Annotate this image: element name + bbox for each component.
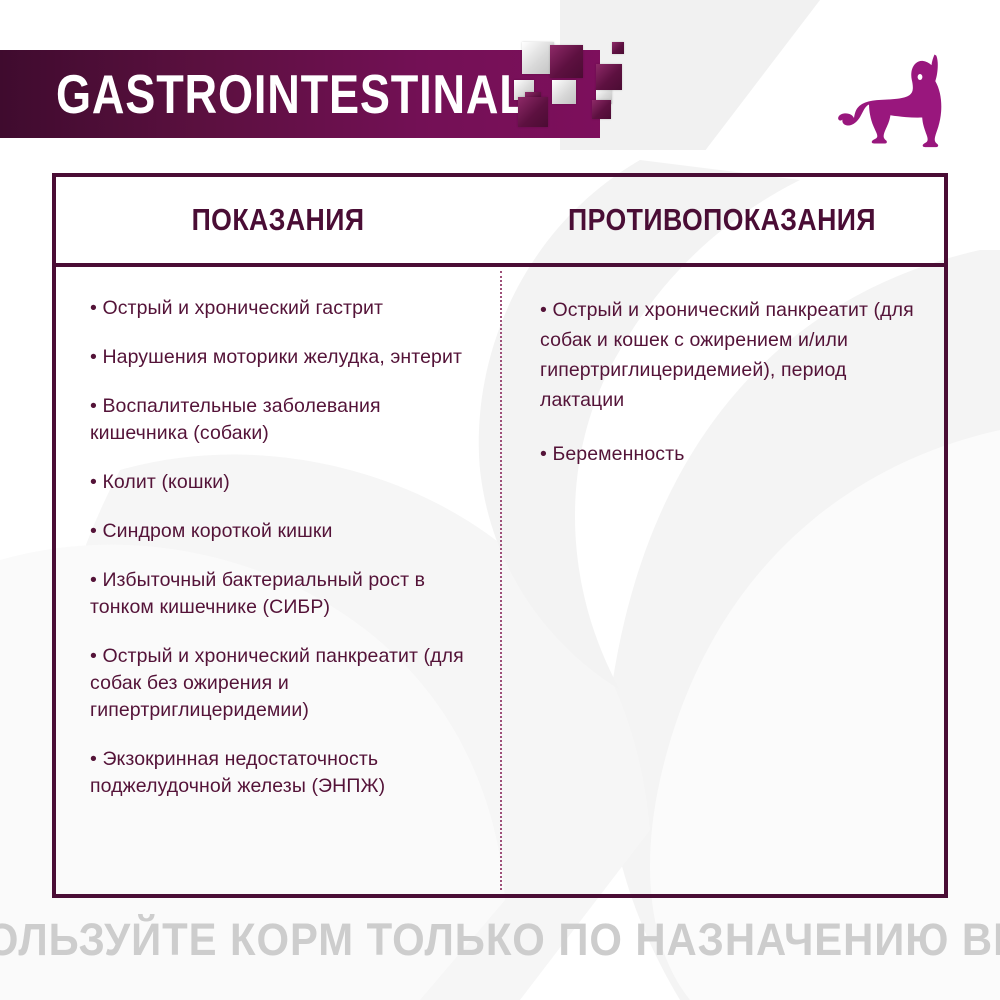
column-divider bbox=[500, 271, 502, 890]
list-item: • Острый и хронический панкреатит (для с… bbox=[540, 295, 922, 415]
list-item: • Синдром короткой кишки bbox=[90, 518, 482, 545]
decor-square-grey bbox=[552, 80, 576, 104]
footer-disclaimer: ИСПОЛЬЗУЙТЕ КОРМ ТОЛЬКО ПО НАЗНАЧЕНИЮ ВР… bbox=[0, 914, 1000, 966]
column-header-contraindications: ПРОТИВОПОКАЗАНИЯ bbox=[531, 202, 913, 238]
column-header-indications: ПОКАЗАНИЯ bbox=[87, 202, 469, 238]
list-item: • Избыточный бактериальный рост в тонком… bbox=[90, 567, 482, 621]
list-item: • Острый и хронический гастрит bbox=[90, 295, 482, 322]
decor-square-purple bbox=[596, 64, 622, 90]
list-item: • Воспалительные заболевания кишечника (… bbox=[90, 393, 482, 447]
page-title: GASTROINTESTINAL bbox=[56, 50, 528, 138]
decor-square-purple bbox=[518, 97, 548, 127]
list-item: • Колит (кошки) bbox=[90, 469, 482, 496]
list-item: • Беременность bbox=[540, 439, 922, 469]
decor-square-purple bbox=[592, 100, 611, 119]
list-item: • Нарушения моторики желудка, энтерит bbox=[90, 344, 482, 371]
table-header-row: ПОКАЗАНИЯ ПРОТИВОПОКАЗАНИЯ bbox=[56, 177, 944, 267]
indications-column: • Острый и хронический гастрит • Нарушен… bbox=[56, 267, 500, 894]
page-header: GASTROINTESTINAL bbox=[0, 0, 1000, 165]
decor-square-purple bbox=[612, 42, 624, 54]
cat-silhouette-icon bbox=[838, 48, 958, 156]
squares-mosaic-icon bbox=[530, 42, 680, 162]
contraindications-column: • Острый и хронический панкреатит (для с… bbox=[500, 267, 944, 894]
footer: ИСПОЛЬЗУЙТЕ КОРМ ТОЛЬКО ПО НАЗНАЧЕНИЮ ВР… bbox=[0, 905, 1000, 975]
list-item: • Экзокринная недостаточность поджелудоч… bbox=[90, 746, 482, 800]
indications-table: ПОКАЗАНИЯ ПРОТИВОПОКАЗАНИЯ • Острый и хр… bbox=[52, 173, 948, 898]
list-item: • Острый и хронический панкреатит (для с… bbox=[90, 643, 482, 724]
decor-square-purple bbox=[550, 45, 583, 78]
